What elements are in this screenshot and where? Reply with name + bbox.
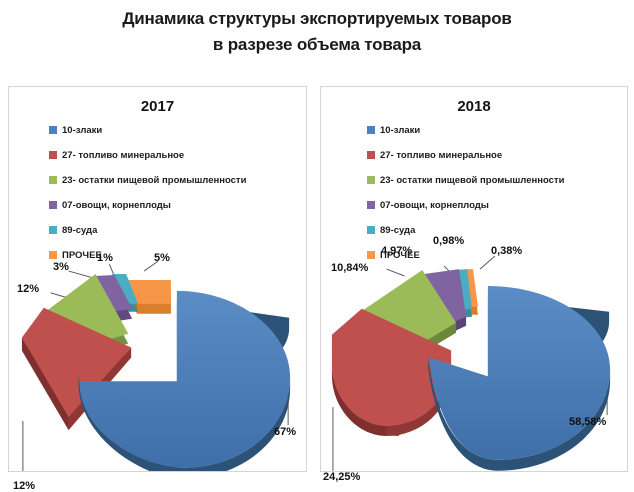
legend-item-fuel[interactable]: 27- топливо минеральное [367, 145, 564, 165]
legend-label-vegetables: 07-овощи, корнеплоды [62, 200, 171, 211]
data-label-grain-2017: 67% [274, 426, 296, 438]
legend-swatch-grain [49, 126, 57, 134]
legend-swatch-other [367, 251, 375, 259]
legend-swatch-fuel [49, 151, 57, 159]
legend-item-vegetables[interactable]: 07-овощи, корнеплоды [367, 195, 564, 215]
legend-item-ships[interactable]: 89-суда [367, 220, 564, 240]
data-label-fuel-2017: 12% [13, 480, 35, 492]
legend-swatch-ships [367, 226, 375, 234]
chart-title-2017: 2017 [9, 98, 306, 115]
legend-swatch-vegetables [367, 201, 375, 209]
legend-item-ships[interactable]: 89-суда [49, 220, 246, 240]
legend-item-food-residue[interactable]: 23- остатки пищевой промышленности [49, 170, 246, 190]
data-label-food-residue-2018: 10,84% [331, 262, 368, 274]
slice-ships-2018[interactable] [456, 269, 472, 318]
leader-lines-2018 [333, 256, 607, 471]
legend-item-grain[interactable]: 10-злаки [49, 120, 246, 140]
data-label-ships-2018: 0,98% [433, 235, 464, 247]
data-label-fuel-2018: 24,25% [323, 471, 360, 483]
data-label-grain-2018: 58,58% [569, 416, 606, 428]
legend-label-ships: 89-суда [380, 225, 415, 236]
legend-label-fuel: 27- топливо минеральное [380, 150, 502, 161]
chart-panel-2017: 2017 10-злаки 27- топливо минеральное 23… [8, 86, 307, 472]
legend-item-vegetables[interactable]: 07-овощи, корнеплоды [49, 195, 246, 215]
leader-lines-2017 [23, 261, 288, 471]
legend-swatch-food-residue [49, 176, 57, 184]
data-label-vegetables-2017: 3% [53, 261, 69, 273]
legend-item-other[interactable]: ПРОЧЕЕ [49, 245, 246, 265]
chart-panel-2018: 2018 10-злаки 27- топливо минеральное 23… [320, 86, 628, 472]
slice-other-2017[interactable] [126, 280, 171, 314]
legend-label-grain: 10-злаки [62, 125, 102, 136]
chart-title-2018: 2018 [321, 98, 627, 115]
slice-ships-2017[interactable] [112, 274, 138, 312]
slice-food-residue-2018[interactable] [361, 270, 456, 367]
slice-fuel-2018[interactable] [332, 309, 451, 436]
legend-swatch-other [49, 251, 57, 259]
legend-label-grain: 10-злаки [380, 125, 420, 136]
data-label-other-2018: 0,38% [491, 245, 522, 257]
legend-item-food-residue[interactable]: 23- остатки пищевой промышленности [367, 170, 564, 190]
legend-item-grain[interactable]: 10-злаки [367, 120, 564, 140]
legend-2017: 10-злаки 27- топливо минеральное 23- ост… [49, 120, 246, 270]
slice-other-2018[interactable] [466, 269, 478, 315]
slice-grain-2017[interactable] [79, 291, 291, 471]
legend-label-other: ПРОЧЕЕ [62, 250, 102, 261]
data-label-food-residue-2017: 12% [17, 283, 39, 295]
title-line-1: Динамика структуры экспортируемых товаро… [0, 6, 634, 32]
legend-item-fuel[interactable]: 27- топливо минеральное [49, 145, 246, 165]
slice-vegetables-2017[interactable] [94, 275, 132, 322]
legend-label-vegetables: 07-овощи, корнеплоды [380, 200, 489, 211]
legend-swatch-grain [367, 126, 375, 134]
slice-vegetables-2018[interactable] [424, 269, 466, 339]
legend-label-fuel: 27- топливо минеральное [62, 150, 184, 161]
slice-grain-2018[interactable] [428, 286, 610, 471]
legend-swatch-ships [49, 226, 57, 234]
legend-swatch-food-residue [367, 176, 375, 184]
legend-label-ships: 89-суда [62, 225, 97, 236]
slice-food-residue-2017[interactable] [39, 274, 128, 360]
title-line-2: в разрезе объема товара [0, 32, 634, 58]
page-title: Динамика структуры экспортируемых товаро… [0, 6, 634, 58]
data-label-ships-2017: 1% [97, 252, 113, 264]
data-label-other-2017: 5% [154, 252, 170, 264]
slice-fuel-2017[interactable] [22, 308, 131, 430]
legend-swatch-fuel [367, 151, 375, 159]
legend-label-food-residue: 23- остатки пищевой промышленности [380, 175, 564, 186]
legend-swatch-vegetables [49, 201, 57, 209]
legend-label-food-residue: 23- остатки пищевой промышленности [62, 175, 246, 186]
data-label-vegetables-2018: 4,97% [381, 245, 412, 257]
